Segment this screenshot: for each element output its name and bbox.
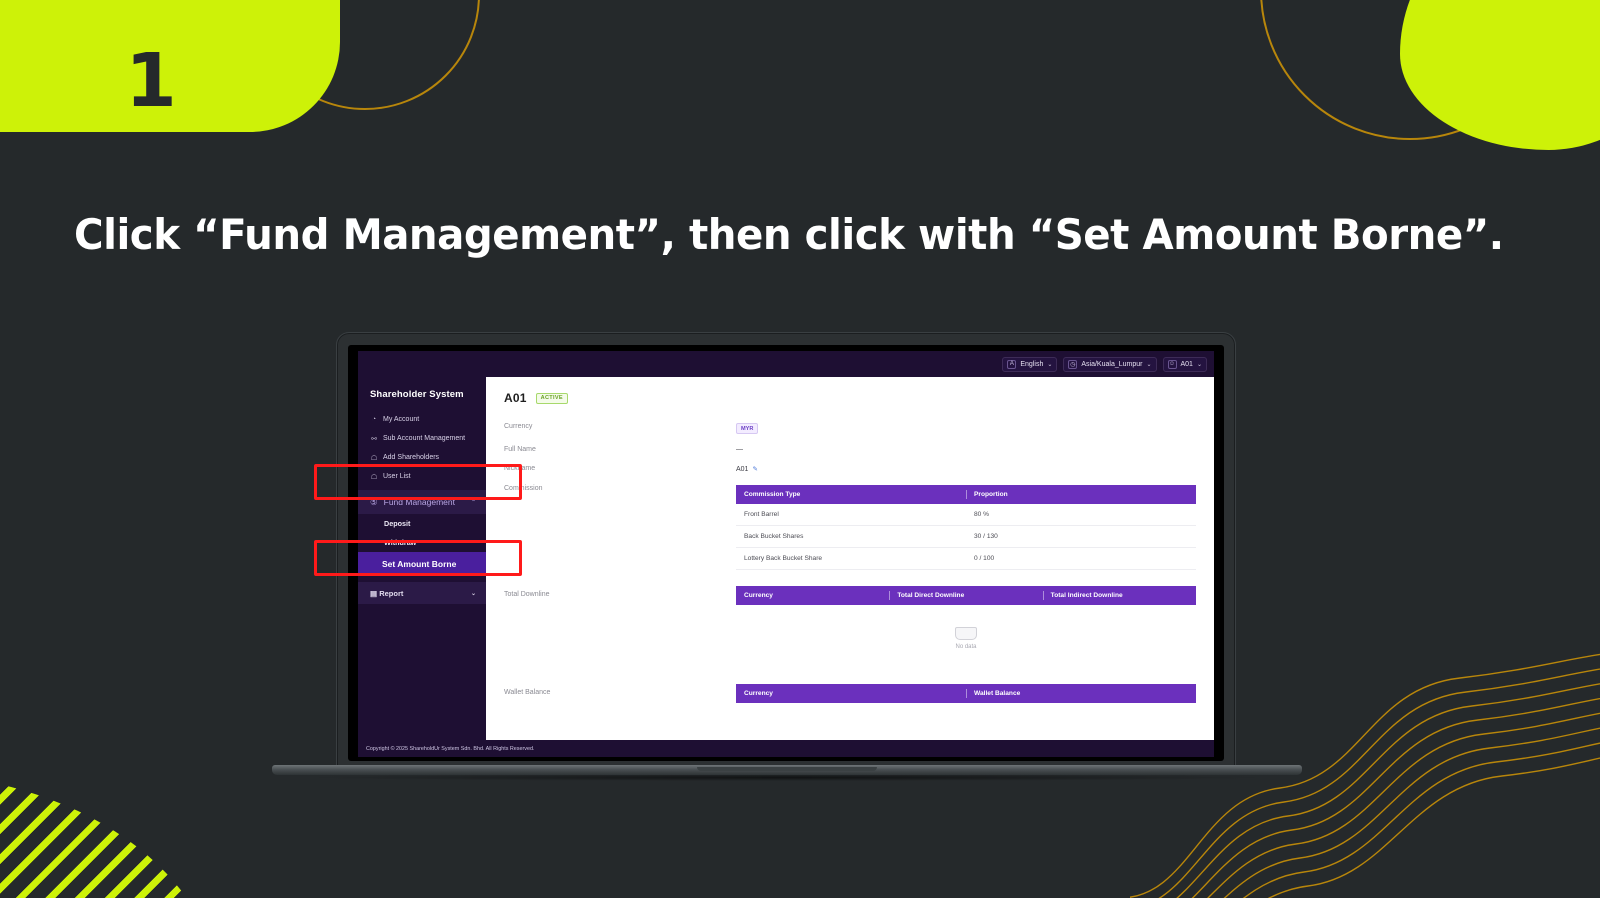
users-icon: ⚯ xyxy=(370,435,378,443)
sidebar-item-report[interactable]: ▤ Report ⌄ xyxy=(358,582,486,604)
pencil-icon[interactable]: ✎ xyxy=(752,465,757,473)
account-name: A01 xyxy=(504,391,527,405)
language-value: English xyxy=(1020,361,1043,368)
sidebar-item-label: Add Shareholders xyxy=(383,454,439,461)
empty-tray-icon xyxy=(955,627,977,640)
cell-proportion: 80 % xyxy=(966,504,1196,526)
field-label: Commission xyxy=(504,485,736,492)
cell-proportion: 30 / 130 xyxy=(966,526,1196,548)
page-title: Click “Fund Management”, then click with… xyxy=(74,210,1539,259)
sidebar-item-user-list[interactable]: ☖ User List xyxy=(358,467,486,486)
sidebar-item-my-account[interactable]: ◔ My Account xyxy=(358,410,486,429)
slide-canvas: 1 Click “Fund Management”, then click wi… xyxy=(0,0,1600,898)
cell-commission-type: Back Bucket Shares xyxy=(736,526,966,548)
commission-table: Commission Type Proportion Front Barrel xyxy=(736,485,1196,570)
brand-title: Shareholder System xyxy=(358,385,486,410)
column-header: Currency xyxy=(736,586,889,605)
section-label: Total Downline xyxy=(504,586,736,662)
table-row: Front Barrel 80 % xyxy=(736,504,1196,526)
laptop-base-shadow xyxy=(302,774,1272,781)
chevron-down-icon: ⌄ xyxy=(471,590,476,597)
sidebar-group-label: Report xyxy=(379,589,403,598)
chevron-down-icon: ⌄ xyxy=(1146,361,1151,368)
account-selector[interactable]: ☺ A01 ⌄ xyxy=(1163,357,1208,372)
lime-stripes-bottom-left xyxy=(0,780,215,898)
chevron-down-icon: ⌄ xyxy=(1047,361,1052,368)
app-footer: Copyright © 2025 ShareholdUr System Sdn.… xyxy=(358,740,1214,757)
laptop-lid: A English ⌄ ◷ Asia/Kuala_Lumpur ⌄ ☺ A01 xyxy=(336,332,1236,772)
account-value: A01 xyxy=(1181,361,1193,368)
cell-commission-type: Front Barrel xyxy=(736,504,966,526)
sidebar-subitem-label: Deposit xyxy=(384,519,410,528)
column-header: Proportion xyxy=(966,485,1196,504)
report-icon: ▤ xyxy=(370,589,377,598)
cell-proportion: 0 / 100 xyxy=(966,548,1196,570)
main-content: A01 ACTIVE Currency MYR Full Name — xyxy=(486,377,1214,740)
dashboard-icon: ◔ xyxy=(370,416,378,424)
field-value: A01 xyxy=(736,466,748,473)
table-header-row: Commission Type Proportion xyxy=(736,485,1196,504)
field-value: — xyxy=(736,446,743,453)
column-header: Currency xyxy=(736,684,966,703)
sidebar-item-add-shareholders[interactable]: ☖ Add Shareholders xyxy=(358,448,486,467)
timezone-value: Asia/Kuala_Lumpur xyxy=(1081,361,1142,368)
account-header: A01 ACTIVE xyxy=(504,391,1196,405)
table-row: Lottery Back Bucket Share 0 / 100 xyxy=(736,548,1196,570)
currency-chip: MYR xyxy=(736,423,758,434)
sidebar-item-sub-account-management[interactable]: ⚯ Sub Account Management xyxy=(358,429,486,448)
chevron-down-icon: ⌄ xyxy=(1197,361,1202,368)
field-label: Currency xyxy=(504,423,736,430)
timezone-selector[interactable]: ◷ Asia/Kuala_Lumpur ⌄ xyxy=(1063,357,1156,372)
column-header: Commission Type xyxy=(736,485,966,504)
status-badge: ACTIVE xyxy=(536,393,568,404)
sidebar-item-deposit[interactable]: Deposit xyxy=(358,514,486,533)
field-label: Nickname xyxy=(504,465,736,472)
sidebar-group-label: Fund Management xyxy=(384,497,455,507)
chevron-up-icon: ⌃ xyxy=(471,499,476,506)
field-label: Full Name xyxy=(504,446,736,453)
sidebar-item-label: User List xyxy=(383,473,411,480)
column-header: Total Indirect Downline xyxy=(1043,586,1196,605)
sidebar-subitem-label: Withdraw xyxy=(384,538,416,547)
downline-table: Currency Total Direct Downline Total Ind… xyxy=(736,586,1196,605)
column-header: Wallet Balance xyxy=(966,684,1196,703)
clock-icon: ◷ xyxy=(1068,360,1077,369)
language-selector[interactable]: A English ⌄ xyxy=(1002,357,1057,372)
sidebar-item-label: Sub Account Management xyxy=(383,435,465,442)
field-currency: Currency MYR xyxy=(504,423,1196,434)
table-header-row: Currency Wallet Balance xyxy=(736,684,1196,703)
step-number-badge: 1 xyxy=(0,0,340,132)
section-wallet-balance: Wallet Balance Currency Wallet Balance xyxy=(504,684,1196,703)
sidebar-item-withdraw[interactable]: Withdraw xyxy=(358,533,486,552)
sidebar-item-label: My Account xyxy=(383,416,419,423)
dollar-circle-icon: ⑤ xyxy=(370,497,378,508)
user-icon: ☺ xyxy=(1168,360,1177,369)
sidebar-item-fund-management[interactable]: ⑤ Fund Management ⌃ xyxy=(358,490,486,514)
user-add-icon: ☖ xyxy=(370,454,378,462)
section-label: Wallet Balance xyxy=(504,684,736,703)
empty-text: No data xyxy=(736,644,1196,650)
sidebar: Shareholder System ◔ My Account ⚯ Sub Ac… xyxy=(358,377,486,740)
app-window: A English ⌄ ◷ Asia/Kuala_Lumpur ⌄ ☺ A01 xyxy=(358,351,1214,757)
downline-empty-state: No data xyxy=(736,605,1196,662)
laptop-mockup: A English ⌄ ◷ Asia/Kuala_Lumpur ⌄ ☺ A01 xyxy=(272,332,1302,787)
table-row: Back Bucket Shares 30 / 130 xyxy=(736,526,1196,548)
step-number: 1 xyxy=(125,44,175,118)
sidebar-subitem-label: Set Amount Borne xyxy=(382,559,456,569)
section-total-downline: Total Downline Currency Total Direct Dow… xyxy=(504,586,1196,662)
field-commission: Commission Commission Type Proportion xyxy=(504,485,1196,570)
translate-icon: A xyxy=(1007,360,1016,369)
wallet-table: Currency Wallet Balance xyxy=(736,684,1196,703)
sidebar-item-set-amount-borne[interactable]: Set Amount Borne xyxy=(358,552,486,576)
laptop-screen: A English ⌄ ◷ Asia/Kuala_Lumpur ⌄ ☺ A01 xyxy=(348,345,1224,761)
table-header-row: Currency Total Direct Downline Total Ind… xyxy=(736,586,1196,605)
cell-commission-type: Lottery Back Bucket Share xyxy=(736,548,966,570)
user-list-icon: ☖ xyxy=(370,473,378,481)
field-nickname: Nickname A01 ✎ xyxy=(504,465,1196,473)
column-header: Total Direct Downline xyxy=(889,586,1042,605)
app-topbar: A English ⌄ ◷ Asia/Kuala_Lumpur ⌄ ☺ A01 xyxy=(358,351,1214,377)
field-full-name: Full Name — xyxy=(504,446,1196,453)
laptop-notch xyxy=(697,767,877,771)
